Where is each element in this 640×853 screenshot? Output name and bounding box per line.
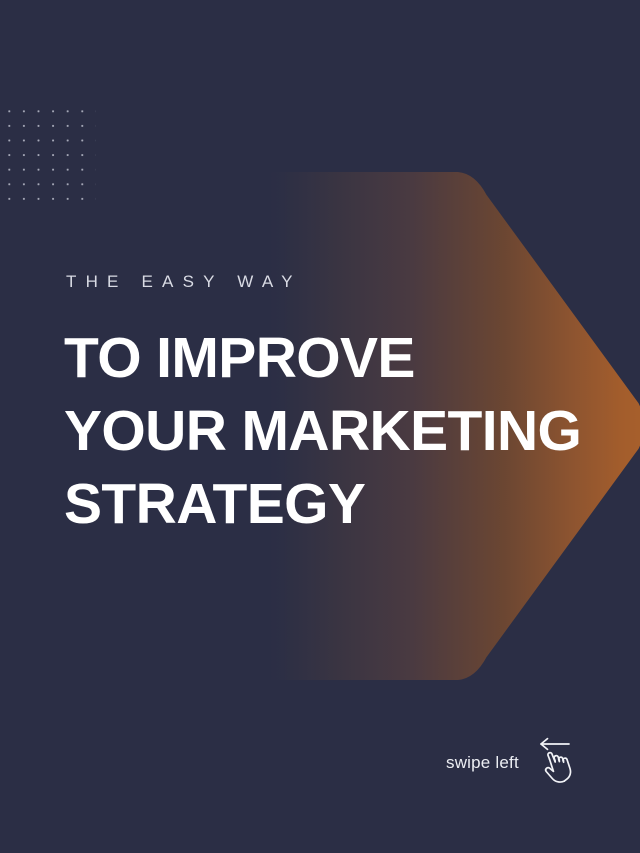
arrow-left-icon [541,738,569,749]
headline-line-1: TO IMPROVE [64,322,604,395]
headline-line-3: STRATEGY [64,468,604,541]
headline-line-2: YOUR MARKETING [64,395,604,468]
hand-swipe-left-icon [529,735,575,792]
page-title: TO IMPROVE YOUR MARKETING STRATEGY [64,322,604,541]
swipe-left-label: swipe left [446,753,519,773]
eyebrow-text: THE EASY WAY [66,272,302,292]
dot-grid-pattern-icon [0,100,96,200]
slide-canvas: THE EASY WAY TO IMPROVE YOUR MARKETING S… [0,0,640,853]
swipe-left-indicator[interactable]: swipe left [446,735,575,791]
